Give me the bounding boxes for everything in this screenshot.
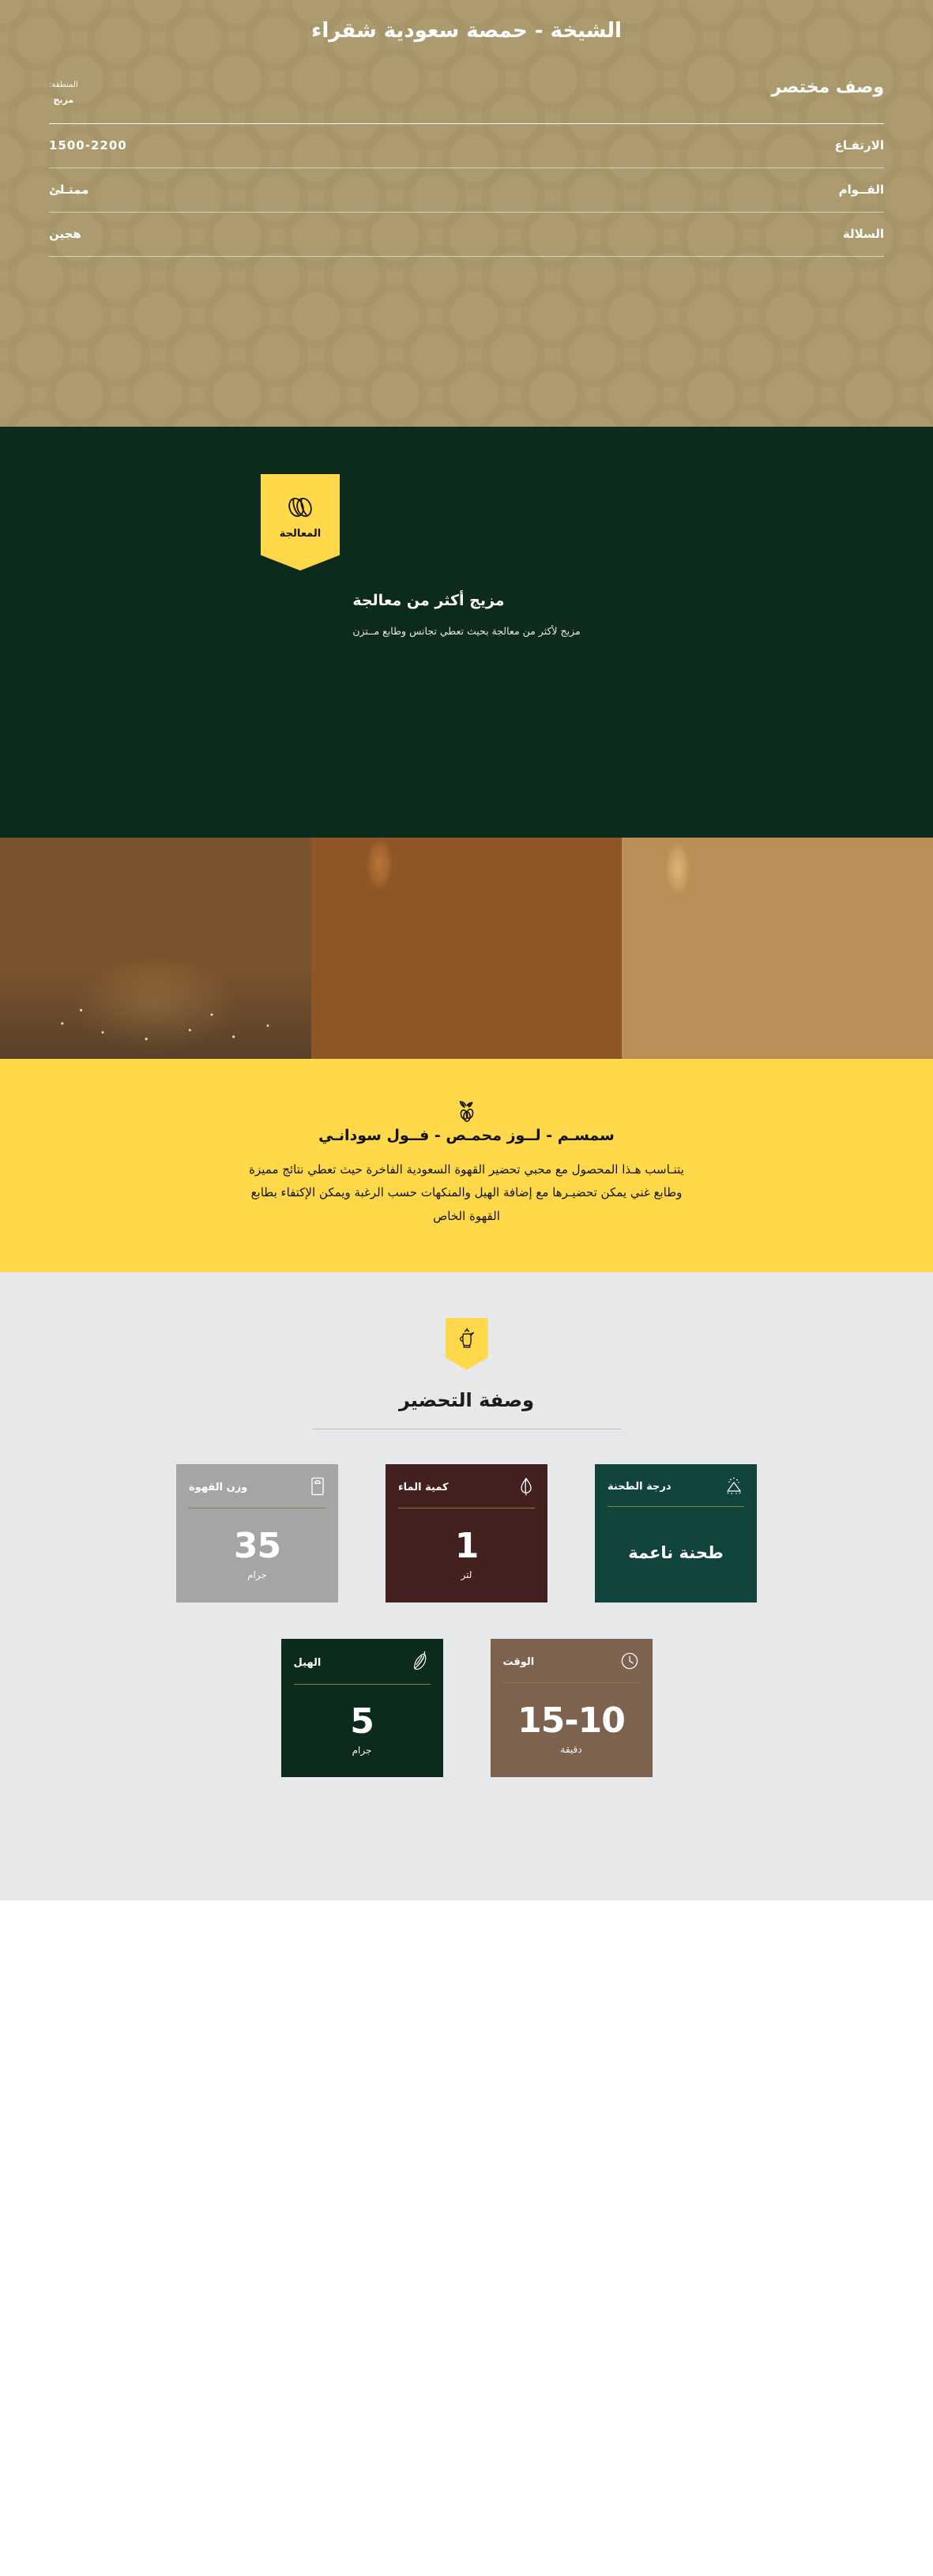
card-header: وزن القهوة [189,1476,325,1500]
blend-body: يتنـاسب هـذا المحصول مع محبي تحضير القهو… [238,1158,696,1228]
spec-divider [49,212,884,213]
blend-section: سمسـم - لــوز محمـص - فــول سودانـي يتنـ… [0,1059,933,1272]
region-label: المنطقة: [49,77,78,92]
card-value-cardamom: 5 [350,1704,374,1740]
spec-value-body: ممتـلئ [49,183,88,197]
nuts-seeds-icon [453,1112,480,1127]
spec-divider [49,168,884,168]
card-divider [398,1508,535,1508]
cardamom-pod-icon [412,1651,431,1676]
card-value-grind-level: طحنة ناعمة [628,1541,723,1566]
card-body: طحنة ناعمة [608,1518,744,1589]
recipe-cards-row-2: الوقت 15-10 دقيقة [0,1639,933,1777]
card-body: 15-10 دقيقة [503,1694,640,1764]
card-unit-cardamom: جرام [352,1745,372,1756]
spec-divider [49,256,884,257]
card-unit-water-amount: لتر [461,1569,472,1580]
card-header: درجة الطحنة [608,1476,744,1498]
recipe-card-coffee-weight: وزن القهوة 35 جرام [176,1464,338,1602]
clock-icon [619,1651,640,1674]
processing-section: مزيج أكثر من معالجة مزيج لأكثر من معالجة… [0,427,933,838]
processing-body: مزيج لأكثر من معالجة بحيث تعطي تجانس وطا… [352,622,580,641]
processing-badge: المعالجة [261,474,340,571]
spec-row-body: القــوام ممتـلئ [49,168,884,212]
specification-table: وصف مختصر المنطقة: مزيج الارتفـاع 1500-2… [49,77,884,257]
recipe-card-grind-level: درجة الطحنة طحنة ناعمة [595,1464,757,1602]
dallah-coffee-pot-icon [455,1326,479,1354]
card-body: 1 لتر [398,1520,535,1589]
card-header: الوقت [503,1651,640,1674]
recipe-card-water-amount: كمية الماء 1 لتر [386,1464,547,1602]
processing-content: مزيج أكثر من معالجة مزيج لأكثر من معالجة… [0,427,933,838]
ingredient-photo-strip [0,838,933,1059]
card-label-cardamom: الهيل [294,1657,322,1669]
card-unit-time: دقيقة [560,1744,581,1755]
card-divider [503,1682,640,1683]
page-title: الشيخة - حمصة سعودية شقراء [0,0,933,43]
grind-powder-icon [724,1476,744,1498]
card-header: كمية الماء [398,1476,535,1500]
card-label-time: الوقت [503,1656,535,1668]
recipe-title: وصفة التحضير [0,1389,933,1411]
card-header: الهيل [294,1651,431,1676]
card-body: 5 جرام [294,1696,431,1764]
spec-value-altitude: 1500-2200 [49,138,127,153]
spec-key-variety: السلالة [843,227,884,241]
coffee-beans-icon [284,495,316,523]
spec-value-variety: هجين [49,227,81,241]
blend-title: سمسـم - لــوز محمـص - فــول سودانـي [0,1127,933,1144]
peanuts-photo [622,838,933,1059]
product-infographic: الشيخة - حمصة سعودية شقراء وصف مختصر الم… [0,0,933,1900]
recipe-card-time: الوقت 15-10 دقيقة [491,1639,653,1777]
card-unit-coffee-weight: جرام [247,1569,267,1580]
region-block: المنطقة: مزيج [49,77,78,109]
recipe-badge [446,1318,488,1370]
card-value-water-amount: 1 [455,1528,479,1565]
processing-badge-label: المعالجة [280,528,321,540]
card-label-coffee-weight: وزن القهوة [189,1482,247,1493]
card-label-water-amount: كمية الماء [398,1482,449,1493]
hero-section: الشيخة - حمصة سعودية شقراء وصف مختصر الم… [0,0,933,427]
card-value-coffee-weight: 35 [234,1528,280,1565]
card-divider [189,1508,325,1508]
spec-heading: وصف مختصر [771,77,884,97]
card-label-grind-level: درجة الطحنة [608,1481,672,1493]
card-value-time: 15-10 [517,1703,625,1739]
spec-row-variety: السلالة هجين [49,213,884,256]
recipe-divider [313,1429,621,1429]
almonds-photo [311,838,623,1059]
water-drop-icon [517,1476,535,1500]
spec-header-row: وصف مختصر المنطقة: مزيج [49,77,884,123]
card-body: 35 جرام [189,1520,325,1589]
coffee-scale-icon [310,1476,325,1500]
spec-divider [49,123,884,124]
recipe-card-cardamom: الهيل 5 جرام [281,1639,443,1777]
card-divider [608,1506,744,1507]
spec-row-altitude: الارتفـاع 1500-2200 [49,124,884,168]
sesame-photo [0,838,311,1059]
region-value: مزيج [49,92,78,109]
recipe-cards-row-1: درجة الطحنة طحنة ناعمة كمية الماء [0,1464,933,1602]
spec-key-body: القــوام [839,183,884,197]
processing-text-block: مزيج أكثر من معالجة مزيج لأكثر من معالجة… [352,592,580,641]
recipe-section: وصفة التحضير [0,1272,933,1900]
processing-title: مزيج أكثر من معالجة [352,592,580,609]
card-divider [294,1684,431,1685]
spec-key-altitude: الارتفـاع [835,138,884,153]
